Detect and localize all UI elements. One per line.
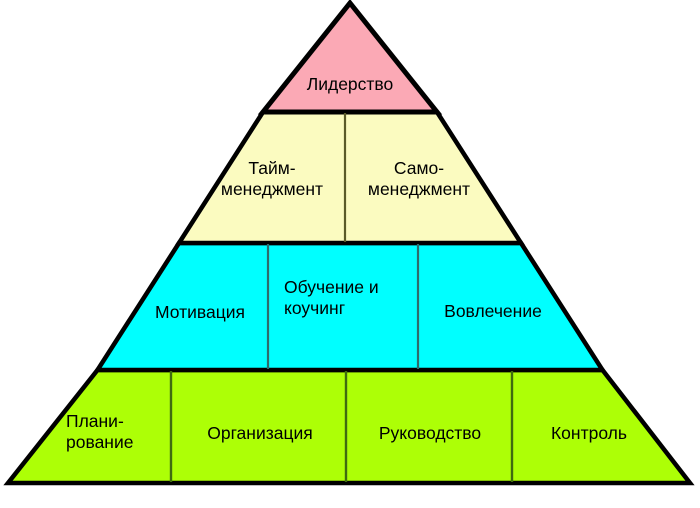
tier-1-shape	[263, 3, 437, 112]
pyramid-diagram: Лидерство Тайм- менеджмент Само- менеджм…	[0, 0, 700, 508]
tier-2-shape	[179, 112, 521, 243]
tier-4-shape	[8, 370, 690, 483]
tier-3-shape	[98, 243, 603, 370]
pyramid-shape	[0, 0, 700, 508]
